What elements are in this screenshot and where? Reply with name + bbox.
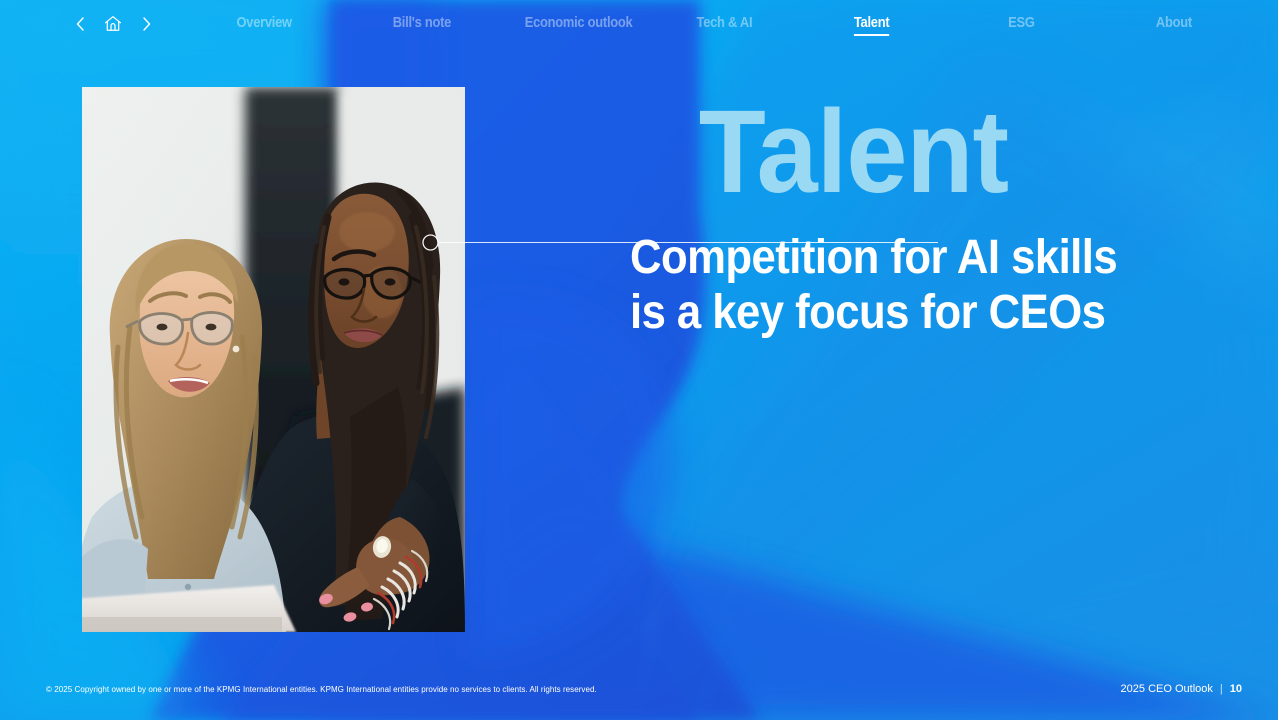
nav-item-label: Bill's note — [393, 14, 451, 31]
nav-item-label: About — [1156, 14, 1192, 31]
nav-item-esg[interactable]: ESG — [1008, 14, 1034, 31]
page-meta: 2025 CEO Outlook | 10 — [1121, 683, 1242, 696]
copyright-notice: © 2025 Copyright owned by one or more of… — [46, 684, 597, 695]
connector-dot — [423, 235, 438, 250]
nav-item-tech-and-ai[interactable]: Tech & AI — [697, 14, 753, 31]
hero-content: Talent Competition for AI skills is a ke… — [630, 96, 1230, 340]
nav-item-overview[interactable]: Overview — [237, 14, 292, 31]
nav-item-talent[interactable]: Talent — [854, 14, 889, 36]
nav-item-bills-note[interactable]: Bill's note — [393, 14, 451, 31]
nav-item-economic-outlook[interactable]: Economic outlook — [525, 14, 633, 31]
nav-item-about[interactable]: About — [1156, 14, 1192, 31]
nav-item-label: Talent — [854, 14, 889, 31]
headline-line-2: is a key focus for CEOs — [630, 285, 1049, 340]
section-title: Talent — [699, 96, 987, 208]
hero-photo — [82, 87, 465, 632]
photo-illustration — [82, 87, 465, 632]
headline-line-1: Competition for AI skills — [630, 230, 1049, 285]
active-underline — [854, 34, 889, 36]
top-navigation-bar: Overview Bill's note Economic outlook Te… — [0, 0, 1278, 50]
nav-item-label: Overview — [237, 14, 292, 31]
nav-item-label: Economic outlook — [525, 14, 633, 31]
hero-headline: Competition for AI skills is a key focus… — [630, 230, 1049, 340]
navigation-menu: Overview Bill's note Economic outlook Te… — [0, 0, 1278, 50]
nav-item-label: Tech & AI — [697, 14, 753, 31]
nav-item-label: ESG — [1008, 14, 1034, 31]
report-name: 2025 CEO Outlook — [1121, 683, 1213, 696]
page-number: 10 — [1230, 683, 1242, 696]
meta-separator: | — [1220, 683, 1223, 696]
